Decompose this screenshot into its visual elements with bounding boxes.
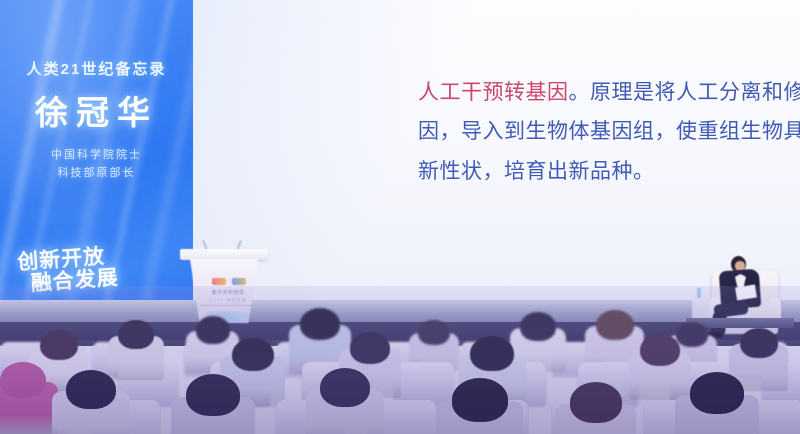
audience-member-head bbox=[186, 374, 240, 416]
audience-member-head bbox=[118, 320, 154, 349]
podium-logo-right bbox=[232, 278, 246, 285]
audience-member-head bbox=[690, 372, 744, 414]
audience-member-head bbox=[320, 368, 370, 407]
audience-member-head bbox=[66, 370, 116, 409]
podium-top bbox=[180, 249, 268, 260]
audience-member-head bbox=[470, 336, 514, 371]
series-kicker: 人类21世纪备忘录 bbox=[0, 58, 193, 79]
audience-member-head bbox=[570, 382, 622, 423]
speaker-role-line2: 科技部原部长 bbox=[58, 167, 136, 179]
speaker-role-line1: 中国科学院院士 bbox=[51, 149, 142, 161]
slide-text-block: 人工干预转基因。原理是将人工分离和修饰过的目标基因，导入到生物体基因组，使重组生… bbox=[418, 73, 800, 191]
audience-member-head bbox=[350, 332, 390, 364]
audience-member-head bbox=[452, 378, 508, 422]
audience-member-head bbox=[676, 322, 708, 347]
slide-highlight-text: 人工干预转基因 bbox=[418, 81, 569, 104]
audience-member-head bbox=[596, 310, 634, 340]
audience-member-head bbox=[300, 308, 340, 340]
conference-photo: 人工干预转基因。原理是将人工分离和修饰过的目标基因，导入到生物体基因组，使重组生… bbox=[0, 0, 800, 434]
audience-member-head bbox=[0, 362, 46, 398]
audience-member-head bbox=[418, 320, 450, 345]
speaker-name: 徐冠华 bbox=[0, 86, 193, 134]
audience bbox=[0, 286, 800, 434]
audience-member-head bbox=[40, 330, 78, 360]
podium-logo-left bbox=[212, 278, 226, 285]
audience-member-head bbox=[740, 328, 778, 358]
speaker-role: 中国科学院院士 科技部原部长 bbox=[0, 146, 193, 182]
audience-member-head bbox=[196, 316, 230, 344]
audience-member-head bbox=[520, 312, 556, 341]
audience-member-head bbox=[232, 338, 274, 371]
speaker-title-card: 人类21世纪备忘录 徐冠华 中国科学院院士 科技部原部长 bbox=[0, 0, 193, 182]
projection-screen-blue-panel: 人类21世纪备忘录 徐冠华 中国科学院院士 科技部原部长 创新开放 融合发展 bbox=[0, 0, 193, 322]
audience-member-head bbox=[640, 334, 680, 366]
